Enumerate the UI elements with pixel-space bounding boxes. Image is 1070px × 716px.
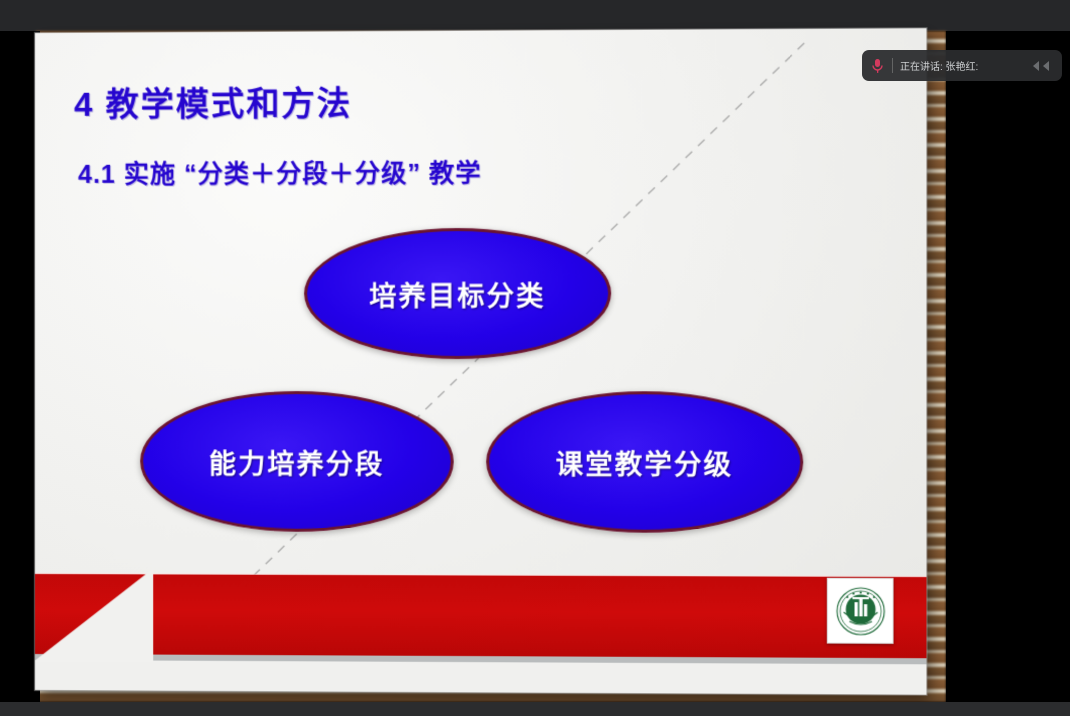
double-chevron-left-icon[interactable] xyxy=(1028,58,1054,74)
diagram-node-label: 培养目标分类 xyxy=(369,274,545,313)
app-bottom-bar xyxy=(0,702,1070,716)
overlay-divider xyxy=(892,58,893,73)
diagram-node-label: 课堂教学分级 xyxy=(556,442,733,482)
diagram-node-ability-training-staging[interactable]: 能力培养分段 xyxy=(140,391,454,532)
microphone-icon xyxy=(870,57,885,74)
emblem-icon xyxy=(835,585,886,636)
wall-left-shadow xyxy=(0,31,40,702)
university-emblem-logo xyxy=(827,578,894,644)
diagram-node-training-goal-classification[interactable]: 培养目标分类 xyxy=(304,228,611,359)
slide-footer-corner-wedge xyxy=(35,568,153,663)
app-top-bar xyxy=(0,0,1070,31)
slide-footer-strip xyxy=(35,660,926,695)
presentation-slide: 4 教学模式和方法 4.1 实施 “分类＋分段＋分级” 教学 培养目标分类 能力… xyxy=(35,28,926,694)
slide-subtitle: 4.1 实施 “分类＋分段＋分级” 教学 xyxy=(78,154,482,191)
diagram-node-classroom-teaching-grading[interactable]: 课堂教学分级 xyxy=(486,391,803,533)
wall-right-shadow xyxy=(946,31,1070,702)
screen-capture: 4 教学模式和方法 4.1 实施 “分类＋分段＋分级” 教学 培养目标分类 能力… xyxy=(0,0,1070,716)
diagram-node-label: 能力培养分段 xyxy=(209,442,384,481)
slide-footer-band xyxy=(35,574,926,658)
page-title: 4 教学模式和方法 xyxy=(74,77,352,126)
now-speaking-label: 正在讲话: 张艳红: xyxy=(900,58,1021,73)
now-speaking-overlay[interactable]: 正在讲话: 张艳红: xyxy=(862,50,1062,81)
projection-screen[interactable]: 4 教学模式和方法 4.1 实施 “分类＋分段＋分级” 教学 培养目标分类 能力… xyxy=(35,28,926,694)
